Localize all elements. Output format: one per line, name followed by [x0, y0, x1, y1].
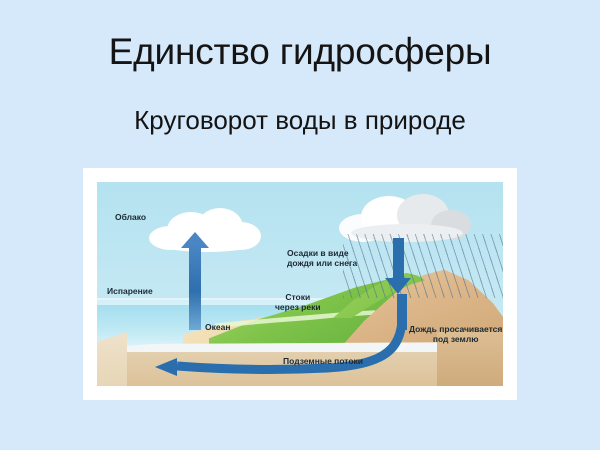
label-seepage: Дождь просачивается под землю	[409, 324, 502, 344]
label-evaporation: Испарение	[107, 286, 153, 296]
presentation-slide: Единство гидросферы Круговорот воды в пр…	[0, 0, 600, 450]
label-underground-flow: Подземные потоки	[283, 356, 363, 366]
water-cycle-diagram: Облако Испарение Океан Осадки в виде дож…	[97, 182, 503, 386]
label-ocean: Океан	[205, 322, 230, 332]
page-title: Единство гидросферы	[0, 30, 600, 74]
diagram-frame: Облако Испарение Океан Осадки в виде дож…	[83, 168, 517, 400]
label-cloud: Облако	[115, 212, 146, 222]
label-runoff: Стоки через реки	[275, 292, 321, 312]
page-subtitle: Круговорот воды в природе	[0, 104, 600, 136]
label-precipitation: Осадки в виде дождя или снега	[287, 248, 357, 268]
